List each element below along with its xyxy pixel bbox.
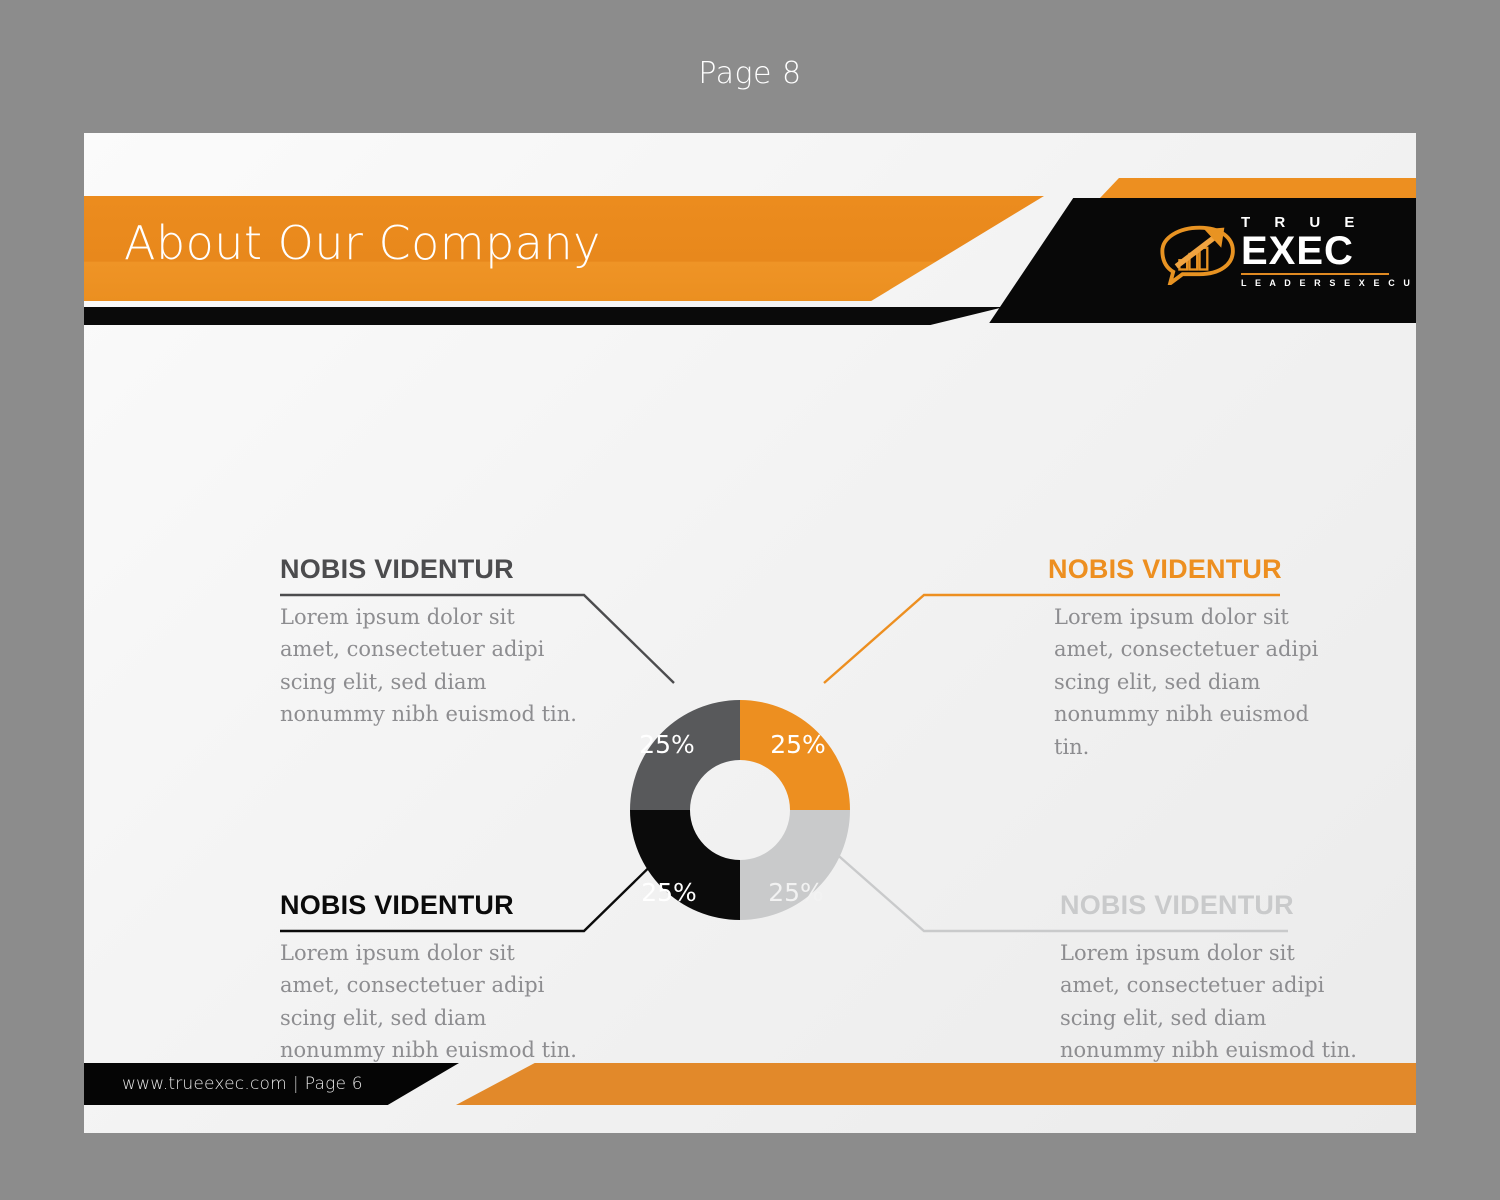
info-block-top-right: NOBIS VIDENTUR Lorem ipsum dolor sit ame… bbox=[1048, 555, 1348, 763]
page-label: Page 8 bbox=[0, 56, 1500, 91]
footer-orange-band bbox=[456, 1063, 1416, 1105]
info-block-bottom-left-body: Lorem ipsum dolor sit amet, consectetuer… bbox=[280, 937, 580, 1067]
donut-label-top-right: 25% bbox=[770, 730, 826, 759]
logo-exec-text: EXEC bbox=[1241, 230, 1391, 272]
slide-canvas: About Our Company T R U E EXEC L E A D E… bbox=[84, 133, 1416, 1133]
footer-page-number: Page 6 bbox=[305, 1074, 363, 1094]
speech-bubble-bar-chart-arrow-icon bbox=[1159, 223, 1237, 285]
donut-label-bottom-right: 25% bbox=[768, 878, 824, 907]
info-block-top-right-heading: NOBIS VIDENTUR bbox=[1048, 555, 1348, 585]
page-title: About Our Company bbox=[124, 216, 601, 270]
info-block-top-left-body: Lorem ipsum dolor sit amet, consectetuer… bbox=[280, 601, 580, 731]
slide-footer: www.trueexec.com|Page 6 bbox=[84, 1063, 1416, 1105]
logo-wordmark: T R U E EXEC L E A D E R S E X E C U T E… bbox=[1241, 215, 1391, 288]
logo-tagline: L E A D E R S E X E C U T E™ bbox=[1241, 279, 1391, 288]
info-block-bottom-left: NOBIS VIDENTUR Lorem ipsum dolor sit ame… bbox=[280, 891, 580, 1067]
info-block-bottom-right-body: Lorem ipsum dolor sit amet, consectetuer… bbox=[1060, 937, 1360, 1067]
footer-text: www.trueexec.com|Page 6 bbox=[122, 1074, 363, 1094]
info-block-top-left-heading: NOBIS VIDENTUR bbox=[280, 555, 580, 585]
donut-label-top-left: 25% bbox=[639, 730, 695, 759]
logo-true-text: T R U E bbox=[1241, 215, 1391, 230]
info-block-top-right-body: Lorem ipsum dolor sit amet, consectetuer… bbox=[1054, 601, 1348, 764]
info-block-bottom-right-heading: NOBIS VIDENTUR bbox=[1060, 891, 1360, 921]
true-exec-logo: T R U E EXEC L E A D E R S E X E C U T E… bbox=[1159, 215, 1394, 295]
header-orange-top-tab bbox=[1100, 178, 1416, 198]
donut-label-bottom-left: 25% bbox=[641, 878, 697, 907]
logo-divider bbox=[1241, 273, 1389, 275]
info-block-bottom-left-heading: NOBIS VIDENTUR bbox=[280, 891, 580, 921]
info-block-top-left: NOBIS VIDENTUR Lorem ipsum dolor sit ame… bbox=[280, 555, 580, 731]
screenshot-root: Page 8 About Our Company T R U E bbox=[0, 0, 1500, 1200]
footer-website[interactable]: www.trueexec.com bbox=[122, 1074, 287, 1094]
footer-separator: | bbox=[287, 1074, 305, 1094]
info-block-bottom-right: NOBIS VIDENTUR Lorem ipsum dolor sit ame… bbox=[1060, 891, 1360, 1067]
slide-body: 25% 25% 25% 25% NOBIS VIDENTUR Lorem ips… bbox=[84, 323, 1416, 1073]
slide-header: About Our Company T R U E EXEC L E A D E… bbox=[84, 133, 1416, 323]
